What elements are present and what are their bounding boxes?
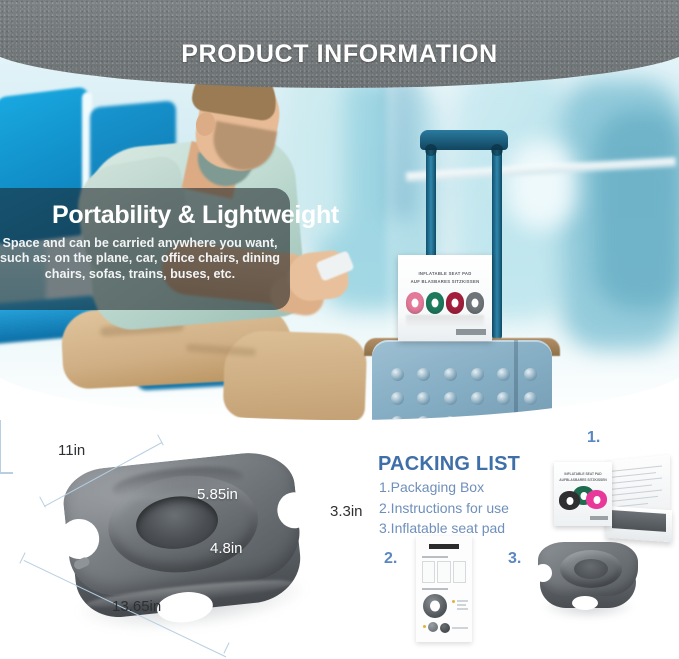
hero-caption-heading: Portability & Lightweight <box>52 200 288 230</box>
cushion-product-image <box>50 443 318 638</box>
page-title: PRODUCT INFORMATION <box>0 40 679 69</box>
sheet-swatch-dot <box>428 622 438 632</box>
details-section: 11in 13.65in 3.3in 5.85in 4.8in PACKING … <box>0 420 679 659</box>
sheet-header-bar <box>429 544 459 549</box>
sheet-text-line <box>457 600 468 602</box>
sheet-subheading <box>422 556 448 558</box>
sheet-text-line <box>457 608 468 610</box>
packaging-box-photo: INFLATABLE SEAT PAD AUFBLASBARES SITZKIS… <box>554 452 674 540</box>
sheet-subheading <box>422 588 448 590</box>
photo-number-2: 2. <box>384 550 397 568</box>
dimension-label-hole-outer: 5.85in <box>197 486 238 503</box>
instruction-sheet-photo <box>416 536 472 642</box>
list-item: 3.Inflatable seat pad <box>379 518 569 539</box>
retail-box-line1: INFLATABLE SEAT PAD <box>398 271 492 276</box>
suitcase-handle-joint <box>425 144 437 156</box>
box-front-badge <box>590 516 608 520</box>
list-item: 1.Packaging Box <box>379 477 569 498</box>
hero-caption-body: Space and can be carried anywhere you wa… <box>0 236 286 282</box>
box-front-color-swatches <box>559 486 607 508</box>
height-guide-tick <box>0 473 13 474</box>
suitcase-handle-rod <box>492 140 502 340</box>
suitcase-handle-joint <box>491 144 503 156</box>
suitcase-dimple-pattern <box>384 362 544 420</box>
dimension-label-height: 3.3in <box>330 503 363 520</box>
pad-center-hole <box>574 559 608 579</box>
sheet-text-line <box>457 604 466 606</box>
retail-box-line2: AUF BLASBARES SITZKISSEN <box>398 279 492 284</box>
photo-number-3: 3. <box>508 550 521 568</box>
height-guide-line <box>0 420 1 472</box>
hero-caption-plate: Portability & Lightweight Space and can … <box>0 188 290 310</box>
retail-box-reflection <box>406 315 484 327</box>
folded-seat-pad <box>612 510 666 532</box>
man-leg <box>223 330 368 420</box>
sheet-product-illustration <box>423 594 447 618</box>
box-front-line1: INFLATABLE SEAT PAD <box>554 472 612 476</box>
box-tray <box>606 506 672 543</box>
sheet-bullet-dot <box>452 600 455 603</box>
packing-list-items: 1.Packaging Box 2.Instructions for use 3… <box>379 477 569 539</box>
dimensions-diagram: 11in 13.65in 3.3in 5.85in 4.8in <box>0 420 372 659</box>
dimension-label-depth: 13.65in <box>112 598 161 615</box>
box-front-panel: INFLATABLE SEAT PAD AUFBLASBARES SITZKIS… <box>554 462 612 526</box>
list-item: 2.Instructions for use <box>379 498 569 519</box>
sheet-text-line <box>452 627 468 629</box>
retail-box-color-swatches <box>406 292 484 316</box>
pad-front-notch <box>572 596 598 610</box>
pad-side-notch <box>534 564 552 582</box>
dimension-label-width: 11in <box>58 442 85 459</box>
depth-guide-tick <box>19 552 25 563</box>
retail-box-badge <box>456 329 486 335</box>
sheet-swatch-dot <box>440 623 450 633</box>
product-information-infographic: INFLATABLE SEAT PAD AUF BLASBARES SITZKI… <box>0 0 679 659</box>
hero-section: INFLATABLE SEAT PAD AUF BLASBARES SITZKI… <box>0 0 679 420</box>
suitcase-seam <box>514 340 518 420</box>
sheet-bullet-dot <box>423 625 426 628</box>
inflatable-seat-pad-photo <box>532 538 644 622</box>
retail-package-box: INFLATABLE SEAT PAD AUF BLASBARES SITZKI… <box>398 255 492 341</box>
photo-number-1: 1. <box>587 429 600 447</box>
dimension-label-hole-inner: 4.8in <box>210 540 243 557</box>
depth-guide-tick <box>223 642 229 653</box>
sheet-icon-row <box>422 561 466 583</box>
packing-list-block: PACKING LIST 1.Packaging Box 2.Instructi… <box>372 420 679 659</box>
packing-list-title: PACKING LIST <box>378 453 520 476</box>
box-front-line2: AUFBLASBARES SITZKISSEN <box>554 478 612 482</box>
width-guide-tick <box>39 496 46 507</box>
